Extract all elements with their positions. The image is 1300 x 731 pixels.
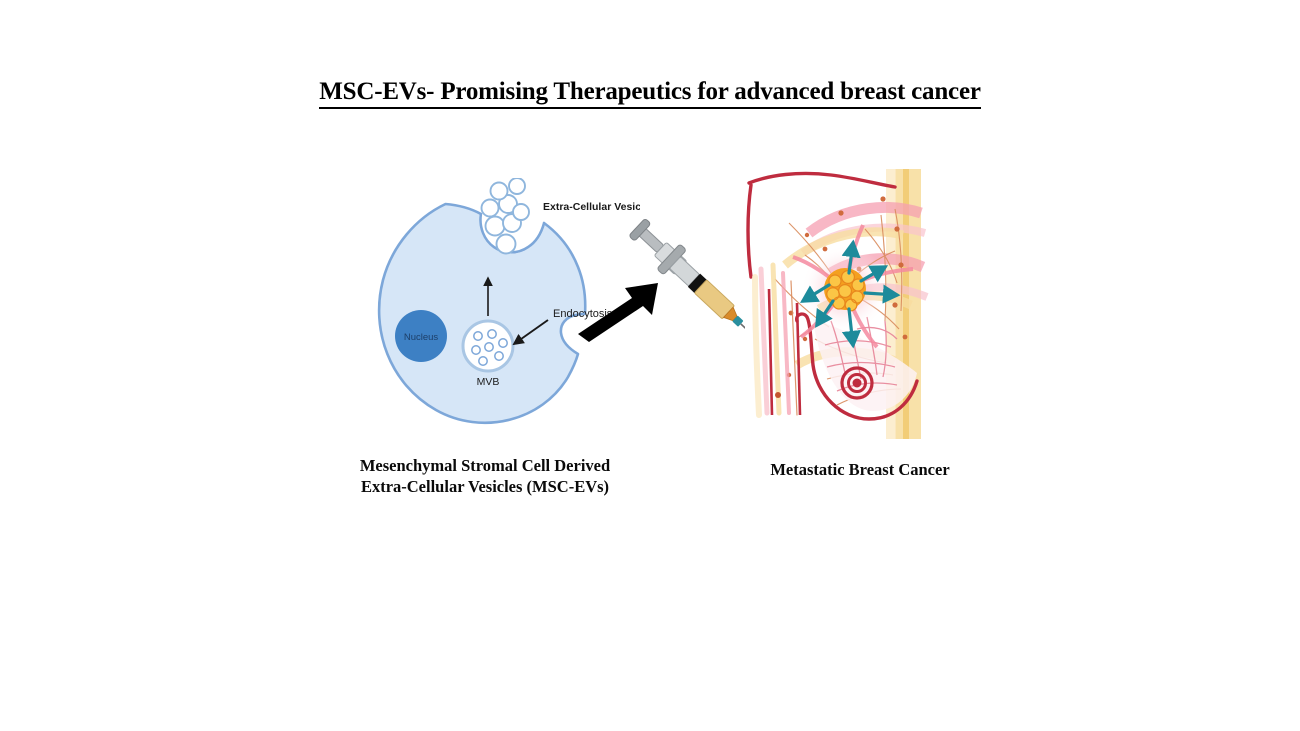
mvb-label: MVB bbox=[477, 376, 500, 388]
right-panel-caption: Metastatic Breast Cancer bbox=[735, 459, 985, 480]
nucleus: Nucleus bbox=[395, 310, 447, 362]
figure-title: MSC-EVs- Promising Therapeutics for adva… bbox=[0, 78, 1300, 106]
figure-title-text: MSC-EVs- Promising Therapeutics for adva… bbox=[319, 78, 981, 109]
left-caption-line-1: Mesenchymal Stromal Cell Derived bbox=[305, 455, 665, 476]
lower-node-dot bbox=[775, 392, 781, 398]
syringe-illustration bbox=[608, 195, 758, 345]
figure-canvas: MSC-EVs- Promising Therapeutics for adva… bbox=[0, 0, 1300, 731]
left-panel-caption: Mesenchymal Stromal Cell Derived Extra-C… bbox=[305, 455, 665, 497]
metastatic-breast-cancer-figure bbox=[745, 169, 933, 439]
nucleus-label: Nucleus bbox=[404, 332, 439, 343]
left-caption-line-2: Extra-Cellular Vesicles (MSC-EVs) bbox=[305, 476, 665, 497]
